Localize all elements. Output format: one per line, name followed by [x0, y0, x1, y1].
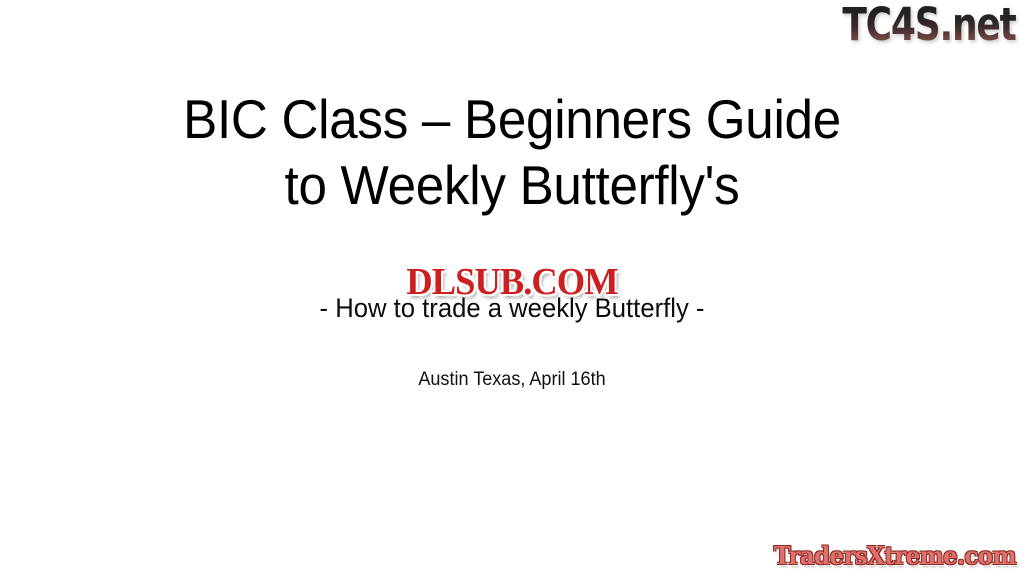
slide-title-line-2: to Weekly Butterfly's: [36, 152, 988, 218]
slide-subtitle-text: - How to trade a weekly Butterfly -: [26, 292, 999, 324]
tc4s-logo-text: TC4S.net: [843, 2, 1016, 48]
slide-date-location-text: Austin Texas, April 16th: [26, 368, 999, 392]
slide-title-line-1: BIC Class – Beginners Guide: [36, 86, 988, 152]
tradersxtreme-logo-watermark: TradersXtreme.com: [761, 542, 1016, 570]
slide-subtitle: - How to trade a weekly Butterfly -: [0, 292, 1024, 324]
presentation-slide: TC4S.net BIC Class – Beginners Guide to …: [0, 0, 1024, 576]
tradersxtreme-logo-text: TradersXtreme.com: [774, 542, 1016, 570]
tc4s-logo-watermark: TC4S.net: [799, 2, 1016, 48]
slide-date-location: Austin Texas, April 16th: [0, 368, 1024, 392]
slide-title: BIC Class – Beginners Guide to Weekly Bu…: [0, 86, 1024, 218]
